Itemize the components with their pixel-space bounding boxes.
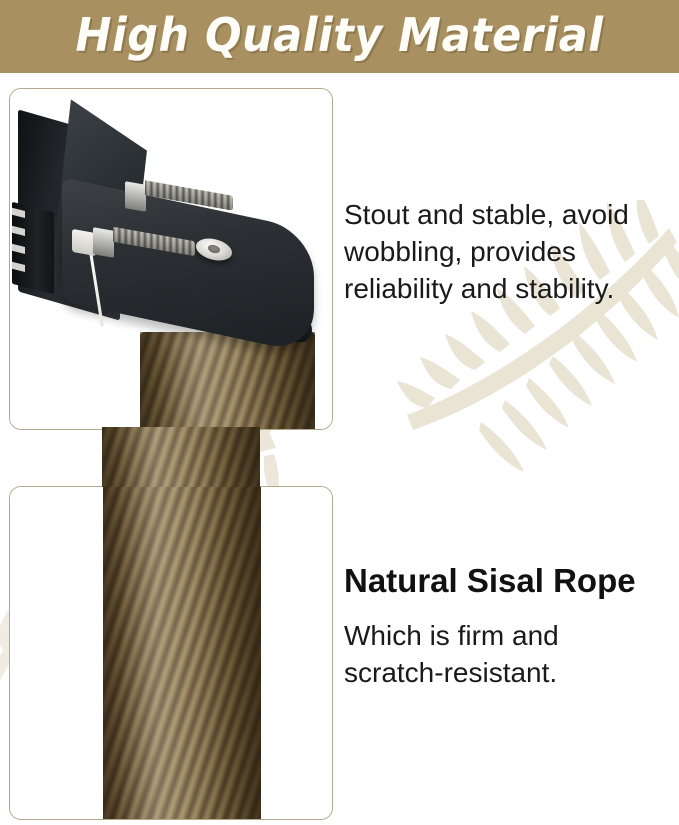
sisal-rope-post-gap xyxy=(102,427,260,487)
bracket-text-block: Stout and stable, avoid wobbling, provid… xyxy=(344,196,666,307)
flange-notch xyxy=(12,226,25,236)
banner-title: High Quality Material xyxy=(75,13,603,59)
rope-photo xyxy=(10,487,332,819)
rope-heading: Natural Sisal Rope xyxy=(344,560,670,601)
metal-bracket-assembly xyxy=(10,89,332,429)
flange-notch xyxy=(12,208,25,218)
rope-body-line-1: Which is firm and xyxy=(344,617,670,654)
photo-frame-bracket xyxy=(9,88,333,430)
bracket-photo xyxy=(10,89,332,429)
bracket-body-line-3: reliability and stability. xyxy=(344,270,666,307)
bracket-side-flange xyxy=(12,202,54,294)
flange-notch xyxy=(12,244,25,254)
bracket-body-line-2: wobbling, provides xyxy=(344,233,666,270)
flange-notch xyxy=(12,262,25,272)
rope-text-block: Natural Sisal Rope Which is firm and scr… xyxy=(344,560,670,691)
bolt-head xyxy=(93,227,114,258)
bolt-head xyxy=(125,181,146,212)
photo-frame-rope xyxy=(9,486,333,820)
rope-body-line-2: scratch-resistant. xyxy=(344,654,670,691)
sisal-rope-post-closeup xyxy=(103,487,261,819)
header-banner: High Quality Material xyxy=(0,0,679,73)
mounting-plate-top xyxy=(62,177,314,355)
bracket-body-line-1: Stout and stable, avoid xyxy=(344,196,666,233)
